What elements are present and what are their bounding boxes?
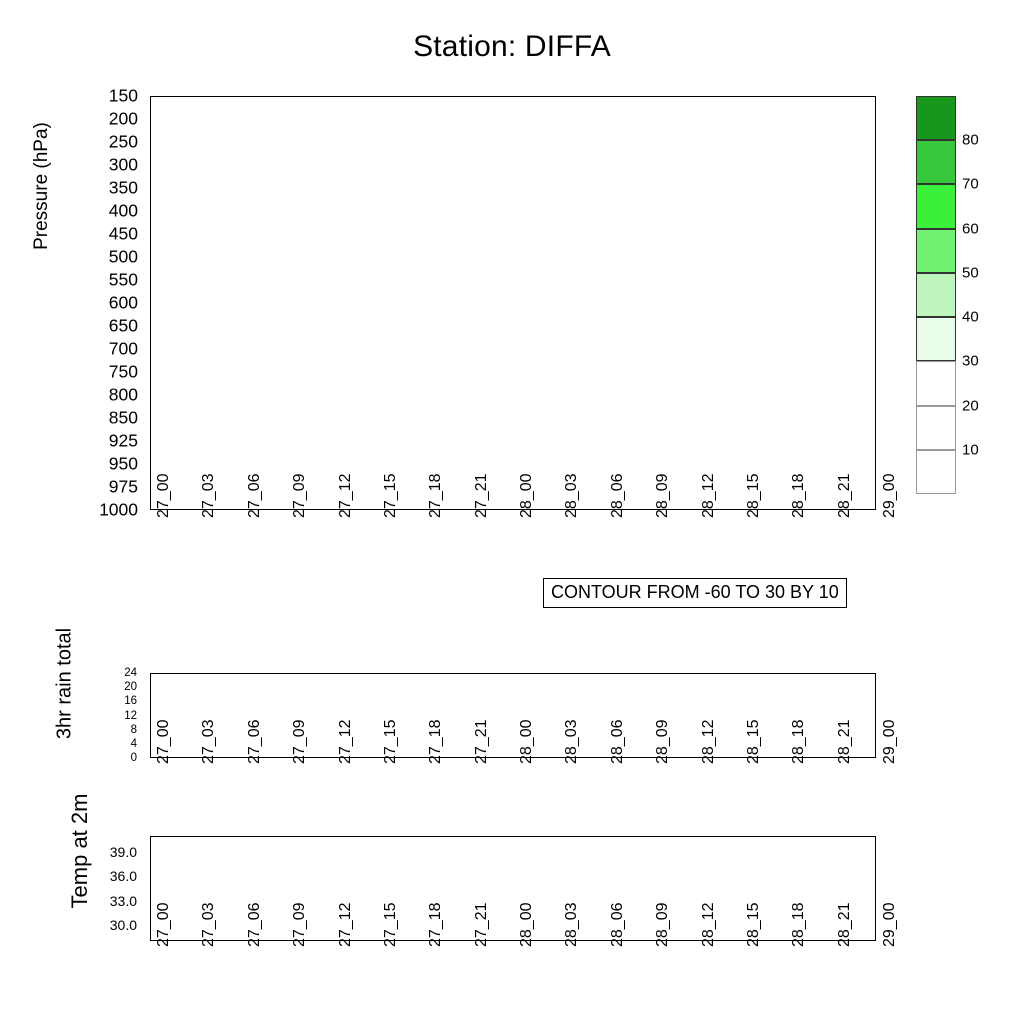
x-tick-28_00: 28_00 bbox=[518, 903, 536, 948]
temp-tick-39.0: 39.0 bbox=[110, 844, 137, 860]
x-tick-29_00: 29_00 bbox=[881, 903, 899, 948]
x-tick-28_06: 28_06 bbox=[609, 474, 627, 519]
contour-caption: CONTOUR FROM -60 TO 30 BY 10 bbox=[543, 578, 847, 608]
sounding-cross-section-panel: -40 -40 -20 -20 0 0 20 20 30 30 10 10 bbox=[150, 96, 876, 510]
x-tick-27_09: 27_09 bbox=[291, 720, 309, 765]
x-tick-28_00: 28_00 bbox=[518, 720, 536, 765]
pressure-tick-850: 850 bbox=[109, 408, 138, 429]
rain-x-tick-labels: 27_0027_0327_0627_0927_1227_1527_1827_21… bbox=[150, 764, 876, 844]
rain-tick-12: 12 bbox=[124, 710, 137, 722]
temp-tick-33.0: 33.0 bbox=[110, 893, 137, 909]
x-tick-28_15: 28_15 bbox=[745, 474, 763, 519]
x-tick-28_21: 28_21 bbox=[836, 903, 854, 948]
colorbar-tick-60: 60 bbox=[962, 220, 979, 237]
x-tick-28_03: 28_03 bbox=[563, 720, 581, 765]
colorbar[interactable] bbox=[916, 96, 956, 494]
x-tick-27_00: 27_00 bbox=[155, 720, 173, 765]
pressure-tick-500: 500 bbox=[109, 247, 138, 268]
x-tick-27_21: 27_21 bbox=[473, 720, 491, 765]
main-y-tick-labels: 1502002503003504004505005506006507007508… bbox=[0, 96, 146, 510]
colorbar-band-7[interactable] bbox=[916, 406, 956, 450]
pressure-tick-975: 975 bbox=[109, 477, 138, 498]
pressure-tick-550: 550 bbox=[109, 270, 138, 291]
colorbar-tick-30: 30 bbox=[962, 353, 979, 370]
x-tick-28_21: 28_21 bbox=[836, 720, 854, 765]
colorbar-band-8[interactable] bbox=[916, 450, 956, 494]
rain-tick-16: 16 bbox=[124, 695, 137, 707]
figure-canvas: Station: DIFFA Pressure (hPa) 1502002503… bbox=[0, 0, 1024, 1024]
pressure-tick-800: 800 bbox=[109, 385, 138, 406]
pressure-tick-750: 750 bbox=[109, 362, 138, 383]
colorbar-band-3[interactable] bbox=[916, 229, 956, 273]
pressure-tick-700: 700 bbox=[109, 339, 138, 360]
x-tick-28_15: 28_15 bbox=[745, 720, 763, 765]
x-tick-27_00: 27_00 bbox=[155, 474, 173, 519]
x-tick-28_18: 28_18 bbox=[790, 720, 808, 765]
x-tick-27_12: 27_12 bbox=[337, 903, 355, 948]
rain-tick-0: 0 bbox=[131, 752, 137, 764]
colorbar-band-4[interactable] bbox=[916, 273, 956, 317]
pressure-tick-350: 350 bbox=[109, 178, 138, 199]
x-tick-27_15: 27_15 bbox=[382, 903, 400, 948]
x-tick-28_18: 28_18 bbox=[790, 903, 808, 948]
temp-tick-36.0: 36.0 bbox=[110, 868, 137, 884]
x-tick-27_00: 27_00 bbox=[155, 903, 173, 948]
colorbar-tick-70: 70 bbox=[962, 176, 979, 193]
pressure-tick-400: 400 bbox=[109, 201, 138, 222]
colorbar-band-5[interactable] bbox=[916, 317, 956, 361]
x-tick-28_12: 28_12 bbox=[700, 474, 718, 519]
rain-tick-8: 8 bbox=[131, 724, 137, 736]
x-tick-27_18: 27_18 bbox=[427, 474, 445, 519]
x-tick-27_21: 27_21 bbox=[473, 474, 491, 519]
x-tick-27_21: 27_21 bbox=[473, 903, 491, 948]
x-tick-27_12: 27_12 bbox=[337, 720, 355, 765]
x-tick-27_09: 27_09 bbox=[291, 903, 309, 948]
x-tick-27_18: 27_18 bbox=[427, 903, 445, 948]
x-tick-28_09: 28_09 bbox=[654, 903, 672, 948]
colorbar-tick-10: 10 bbox=[962, 441, 979, 458]
colorbar-tick-20: 20 bbox=[962, 397, 979, 414]
x-tick-28_12: 28_12 bbox=[700, 720, 718, 765]
colorbar-tick-40: 40 bbox=[962, 309, 979, 326]
x-tick-27_06: 27_06 bbox=[246, 720, 264, 765]
pressure-tick-200: 200 bbox=[109, 109, 138, 130]
x-tick-27_03: 27_03 bbox=[200, 720, 218, 765]
colorbar-band-2[interactable] bbox=[916, 184, 956, 228]
pressure-tick-650: 650 bbox=[109, 316, 138, 337]
temp-y-tick-labels: 39.036.033.030.0 bbox=[0, 836, 146, 941]
pressure-tick-1000: 1000 bbox=[99, 500, 138, 521]
colorbar-tick-labels: 8070605040302010 bbox=[962, 96, 1022, 494]
x-tick-28_03: 28_03 bbox=[563, 474, 581, 519]
x-tick-27_03: 27_03 bbox=[200, 903, 218, 948]
x-tick-27_03: 27_03 bbox=[200, 474, 218, 519]
pressure-tick-250: 250 bbox=[109, 132, 138, 153]
x-tick-28_09: 28_09 bbox=[654, 474, 672, 519]
x-tick-28_06: 28_06 bbox=[609, 903, 627, 948]
main-plot-frame bbox=[150, 96, 876, 510]
page-title: Station: DIFFA bbox=[0, 30, 1024, 64]
pressure-tick-925: 925 bbox=[109, 431, 138, 452]
x-tick-28_00: 28_00 bbox=[518, 474, 536, 519]
x-tick-27_06: 27_06 bbox=[246, 903, 264, 948]
pressure-tick-450: 450 bbox=[109, 224, 138, 245]
pressure-tick-600: 600 bbox=[109, 293, 138, 314]
colorbar-band-6[interactable] bbox=[916, 361, 956, 405]
colorbar-band-1[interactable] bbox=[916, 140, 956, 184]
x-tick-27_09: 27_09 bbox=[291, 474, 309, 519]
colorbar-tick-50: 50 bbox=[962, 264, 979, 281]
x-tick-28_21: 28_21 bbox=[836, 474, 854, 519]
pressure-tick-300: 300 bbox=[109, 155, 138, 176]
x-tick-28_03: 28_03 bbox=[563, 903, 581, 948]
x-tick-27_12: 27_12 bbox=[337, 474, 355, 519]
colorbar-band-0[interactable] bbox=[916, 96, 956, 140]
x-tick-27_06: 27_06 bbox=[246, 474, 264, 519]
x-tick-28_09: 28_09 bbox=[654, 720, 672, 765]
x-tick-27_18: 27_18 bbox=[427, 720, 445, 765]
x-tick-27_15: 27_15 bbox=[382, 474, 400, 519]
x-tick-28_06: 28_06 bbox=[609, 720, 627, 765]
x-tick-28_15: 28_15 bbox=[745, 903, 763, 948]
x-tick-28_18: 28_18 bbox=[790, 474, 808, 519]
x-tick-27_15: 27_15 bbox=[382, 720, 400, 765]
colorbar-tick-80: 80 bbox=[962, 132, 979, 149]
pressure-tick-150: 150 bbox=[109, 86, 138, 107]
x-tick-29_00: 29_00 bbox=[881, 474, 899, 519]
rain-tick-20: 20 bbox=[124, 681, 137, 693]
temp-x-tick-labels: 27_0027_0327_0627_0927_1227_1527_1827_21… bbox=[150, 947, 876, 1027]
x-tick-28_12: 28_12 bbox=[700, 903, 718, 948]
rain-tick-4: 4 bbox=[131, 738, 137, 750]
x-tick-29_00: 29_00 bbox=[881, 720, 899, 765]
rain-tick-24: 24 bbox=[124, 667, 137, 679]
pressure-tick-950: 950 bbox=[109, 454, 138, 475]
temp-tick-30.0: 30.0 bbox=[110, 917, 137, 933]
